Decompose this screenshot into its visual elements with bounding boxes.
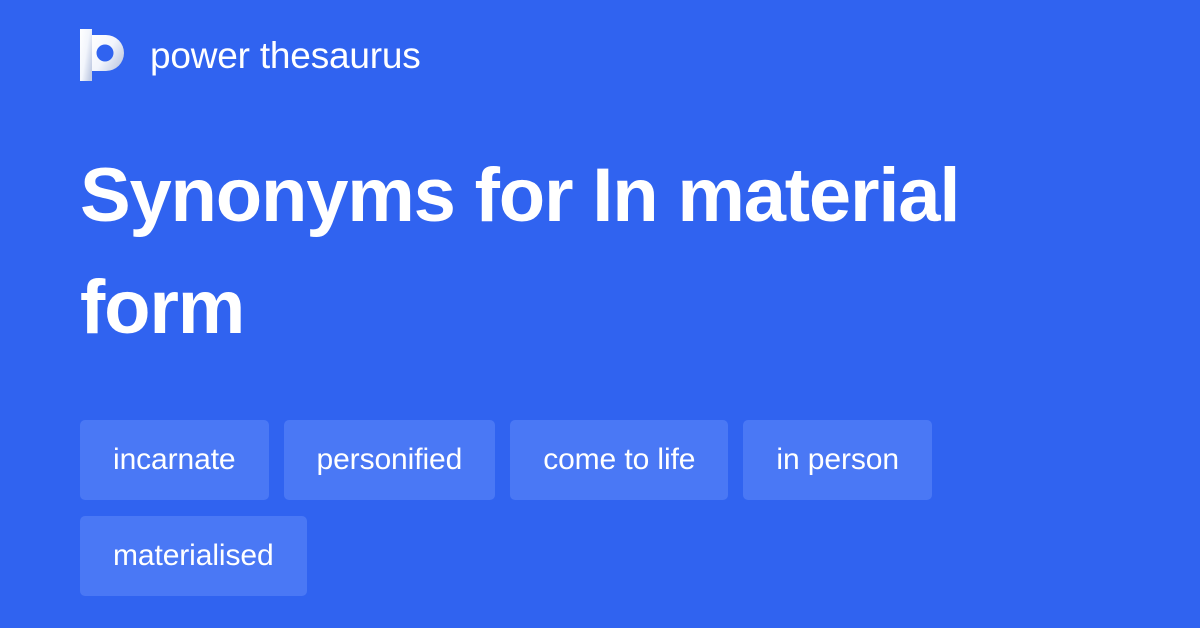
power-thesaurus-b-logo-icon xyxy=(80,29,130,81)
share-card: power thesaurus Synonyms for In material… xyxy=(0,0,1200,628)
page-title: Synonyms for In material form xyxy=(80,140,1090,364)
brand-name: power thesaurus xyxy=(150,37,421,74)
synonym-chip[interactable]: incarnate xyxy=(80,420,269,500)
synonym-chip-list: incarnate personified come to life in pe… xyxy=(80,420,1125,596)
synonym-chip[interactable]: materialised xyxy=(80,516,307,596)
brand-header[interactable]: power thesaurus xyxy=(80,29,421,81)
synonym-chip[interactable]: personified xyxy=(284,420,496,500)
synonym-chip[interactable]: in person xyxy=(743,420,932,500)
synonym-chip[interactable]: come to life xyxy=(510,420,728,500)
